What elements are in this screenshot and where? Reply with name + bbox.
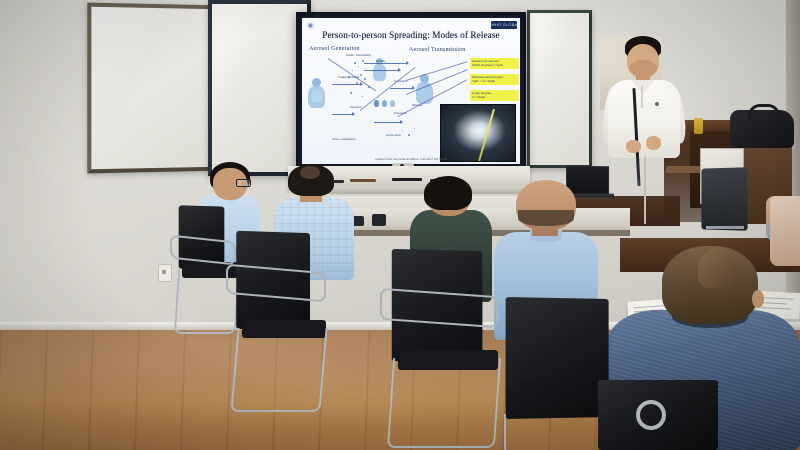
laser-beam-highlight [478,109,494,161]
conference-room-photo: WHO GLOBAL Person-to-person Spreading: M… [0,0,800,450]
diagram-person-body [373,64,386,81]
diagram-label: Evaporation [394,112,407,115]
diagram-arrow [364,63,408,64]
slide-section-right-label: Aerosol Transmission [409,47,466,53]
note-line-2: d > 50µm [472,95,485,99]
droplet-icon [374,100,379,107]
slide-section-left-label: Aerosol Generation [309,46,360,52]
chair-base [706,226,744,229]
whiteboard-left [87,3,219,174]
diagram-label: Deposition [350,106,361,109]
presenter-right-hand [646,136,661,150]
droplet-dot [408,134,410,136]
attendee-2-crown [300,166,320,179]
droplet-dot [362,60,364,62]
outlet-slot-icon [162,270,166,274]
whiteboard-glare [212,4,307,172]
chair-by-lectern[interactable] [701,167,747,230]
slide-brand-badge: WHO GLOBAL [491,21,517,29]
eyeglasses-icon [236,179,251,187]
droplet-dot [350,92,352,94]
attendee-5-ear [752,290,764,308]
slide-corner-logo-icon [307,22,314,29]
diagram-arrow [332,114,354,115]
highlighted-note: Medium-sized droplets 5µm < d < 50µm [470,74,519,85]
droplet-icon [382,100,387,107]
droplet-dot [354,62,356,64]
diagram-label: Droplet nuclei [386,134,401,137]
note-line-2: Small droplets) < 5µm [472,63,503,67]
chair-hinge-icon [636,400,666,430]
diagram-label: Surface contamination [332,138,355,141]
attendee-4-hair [518,210,574,226]
diagram-label: Vocalization [394,80,407,83]
projection-screen: WHO GLOBAL Person-to-person Spreading: M… [296,12,526,170]
droplet-dot [358,66,359,67]
presenter-shirt-placket [641,86,643,108]
droplet-dot [414,128,415,129]
diagram-label: Speaking [376,60,386,63]
bag-handle[interactable] [748,104,780,119]
diagram-label: Normal / tidal breathing [346,54,371,57]
presenter-left-hand [626,140,641,153]
highlighted-note: Large droplets d > 50µm [470,90,519,101]
slide-citation: Adapted from Morawska & Milton, Clin Inf… [302,157,520,161]
droplet-dot [368,86,370,88]
attendee-5-hair [698,248,736,288]
diagram-label: Coughing / sneezing [338,76,359,79]
diagram-connector [406,61,467,80]
slide-title: Person-to-person Spreading: Modes of Rel… [302,30,520,40]
droplet-dot [352,70,353,71]
presentation-slide: WHO GLOBAL Person-to-person Spreading: M… [302,18,520,164]
presenter [600,36,696,226]
presenter-trouser-seam [644,156,646,224]
diagram-arrow [390,88,414,89]
conference-chair-frame [387,358,501,448]
conference-chair-frame [230,328,327,412]
whiteboard-glare [530,13,589,165]
droplet-dot [364,78,366,80]
diagram-lung-icon [311,90,323,103]
droplet-dot [402,130,403,131]
note-line-2: 5µm < d < 50µm [472,79,495,83]
attendee-3-hair [424,176,472,210]
whiteboard-right [527,10,592,168]
whiteboard-glare [91,7,215,170]
diagram-arrow [364,70,400,71]
presenter-shirt-logo-icon [655,102,659,106]
droplet-dot [362,96,363,97]
droplet-icon [390,100,395,107]
conference-chair-back[interactable] [506,297,609,419]
desk-device[interactable] [372,214,386,226]
diagram-label: Inhalation [412,104,423,107]
slide-photo-inset [440,104,516,162]
droplet-dot [360,74,362,76]
highlighted-note: Aerosol (or Aerosol Small droplets) < 5µ… [470,58,519,69]
diagram-arrow [374,122,402,123]
diagram-connector [406,69,467,94]
